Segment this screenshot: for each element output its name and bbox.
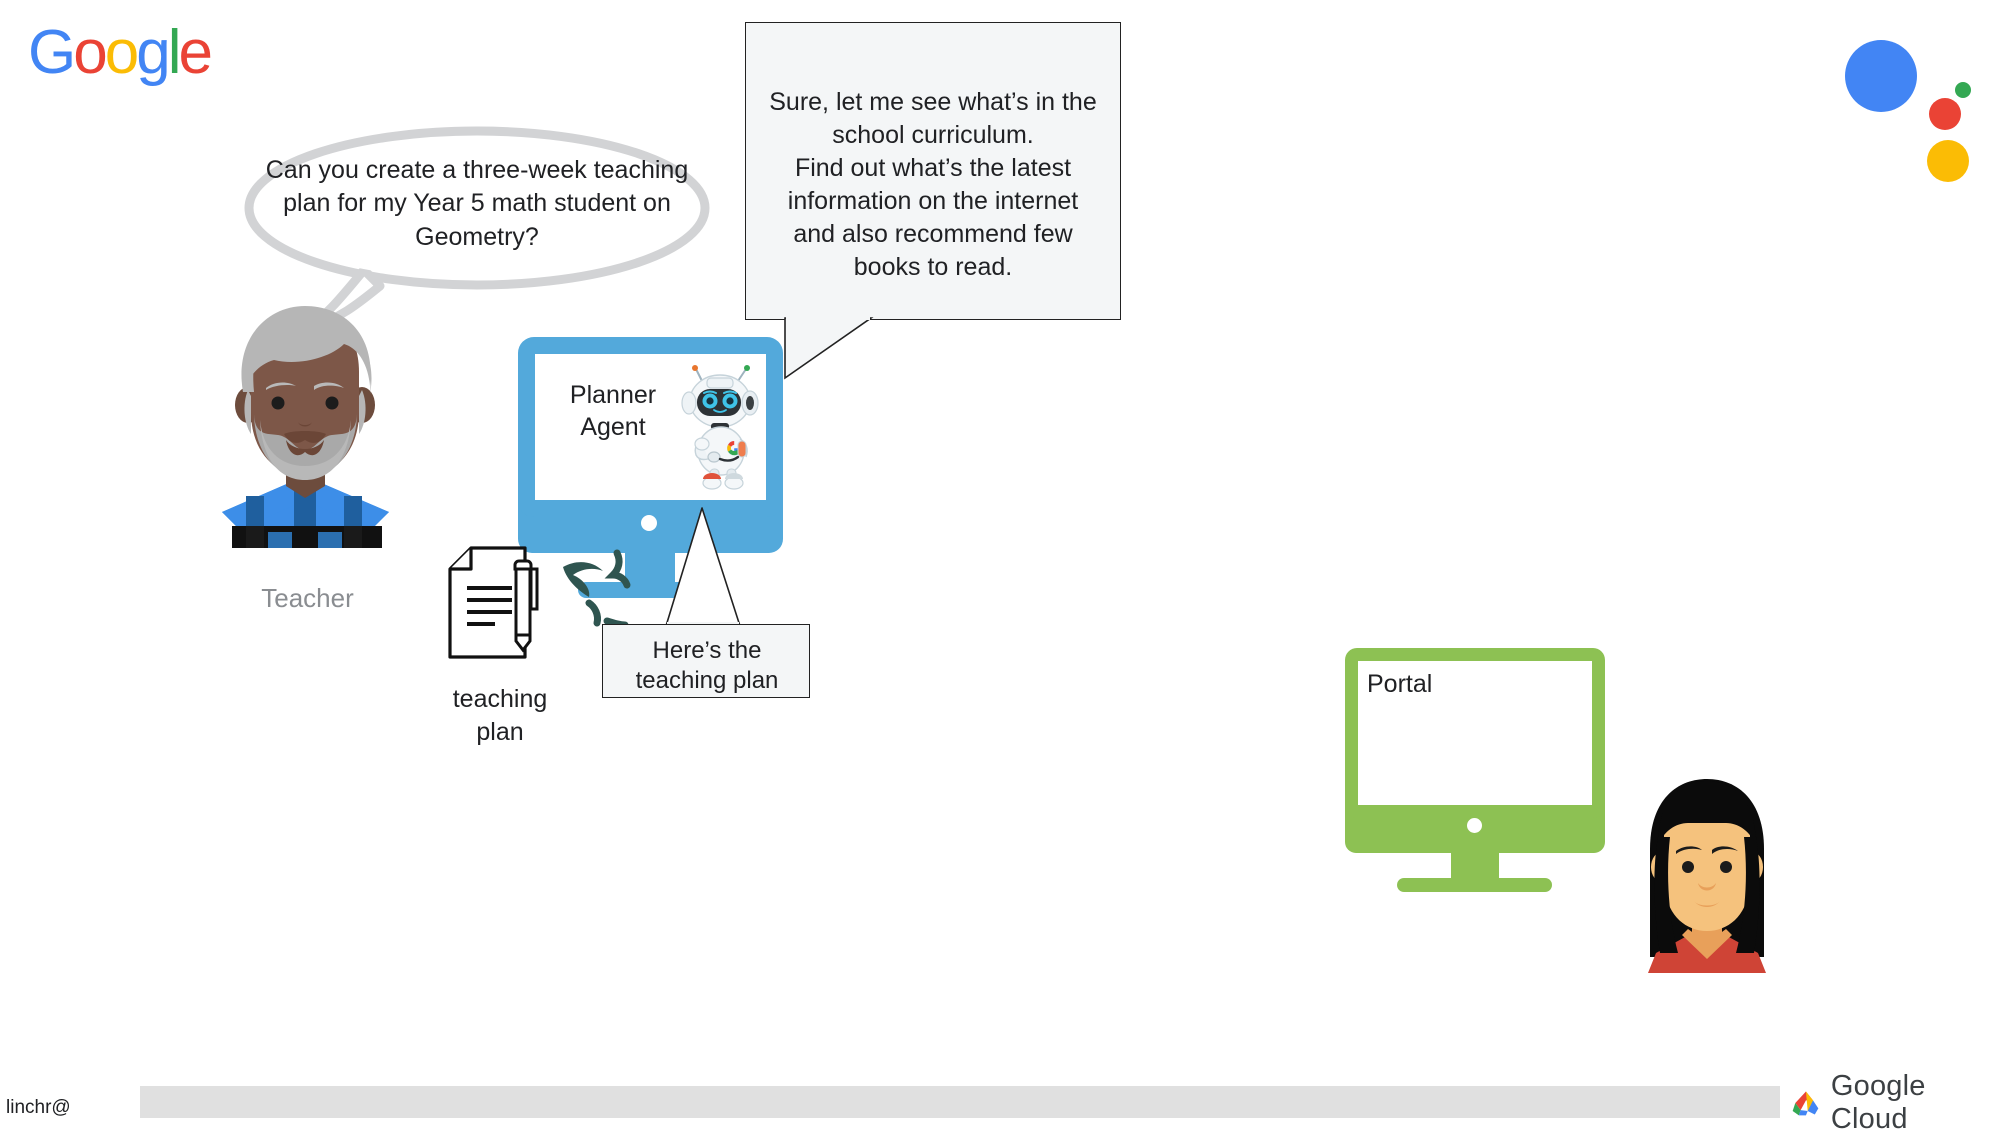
agent-bubble-tail — [783, 318, 873, 380]
agent-response-text: Sure, let me see what’s in the school cu… — [759, 86, 1107, 284]
teaching-plan-label-line-1: teaching — [420, 683, 580, 716]
bottom-progress-strip — [140, 1086, 1780, 1118]
google-assistant-dots-icon — [1845, 30, 1965, 140]
planner-agent-label-line-2: Agent — [548, 411, 678, 443]
robot-illustration — [680, 365, 760, 490]
google-logo-letter-g2: g — [136, 22, 167, 84]
teacher-speech-bubble: Can you create a three-week teaching pla… — [246, 128, 708, 288]
student-avatar — [1638, 775, 1776, 975]
assistant-dot-yellow — [1927, 140, 1969, 182]
planner-agent-label: Planner Agent — [548, 379, 678, 443]
teacher-avatar — [218, 300, 393, 550]
plan-delivery-text: Here’s the teaching plan — [608, 636, 806, 696]
assistant-dot-red — [1929, 98, 1961, 130]
google-logo-letter-o1: o — [73, 22, 104, 84]
teal-arrow-scribbles — [555, 545, 675, 630]
portal-monitor-base — [1397, 878, 1552, 892]
plan-delivery-line-2: teaching plan — [608, 666, 806, 696]
google-cloud-mark-icon — [1790, 1087, 1822, 1119]
google-cloud-label: Google Cloud — [1831, 1070, 1990, 1136]
agent-response-line-4: information on the internet — [759, 185, 1107, 218]
teacher-label: Teacher — [190, 583, 425, 614]
agent-response-line-1: Sure, let me see what’s in the — [759, 86, 1107, 119]
google-cloud-logo: Google Cloud — [1790, 1082, 1990, 1124]
google-logo-letter-o2: o — [105, 22, 136, 84]
handoff-arrow-marks-icon — [555, 545, 675, 630]
teaching-plan-label: teaching plan — [420, 683, 580, 749]
google-logo-letter-g: G — [28, 22, 73, 84]
teaching-plan-document-icon — [447, 545, 552, 660]
google-logo-letter-l: l — [168, 22, 179, 84]
plan-bubble-tail — [664, 508, 744, 628]
teaching-plan-delivery-bubble: Here’s the teaching plan — [602, 624, 812, 700]
plan-delivery-line-1: Here’s the — [608, 636, 806, 666]
author-handle: linchr@ — [6, 1097, 71, 1119]
agent-response-bubble: Sure, let me see what’s in the school cu… — [745, 22, 1123, 322]
assistant-dot-green — [1955, 82, 1971, 98]
google-logo-letter-e: e — [178, 22, 209, 84]
portal-monitor: Portal — [1345, 648, 1605, 878]
google-logo: Google — [28, 22, 210, 84]
portal-label: Portal — [1367, 670, 1432, 699]
portal-monitor-indicator-dot — [1467, 818, 1482, 833]
student-avatar-illustration — [1638, 775, 1776, 975]
monitor-indicator-dot — [641, 515, 657, 531]
agent-response-line-6: books to read. — [759, 251, 1107, 284]
teacher-avatar-illustration — [218, 300, 393, 550]
teaching-plan-label-line-2: plan — [420, 716, 580, 749]
planner-agent-label-line-1: Planner — [548, 379, 678, 411]
agent-response-line-5: and also recommend few — [759, 218, 1107, 251]
robot-mascot-icon — [680, 365, 760, 490]
document-with-pen-illustration — [447, 545, 552, 660]
agent-response-line-2: school curriculum. — [759, 119, 1107, 152]
teacher-question-text: Can you create a three-week teaching pla… — [246, 154, 708, 254]
agent-response-line-3: Find out what’s the latest — [759, 152, 1107, 185]
slide-canvas: Google Can you create a three-week teach… — [0, 0, 2000, 1123]
assistant-dot-blue — [1845, 40, 1917, 112]
